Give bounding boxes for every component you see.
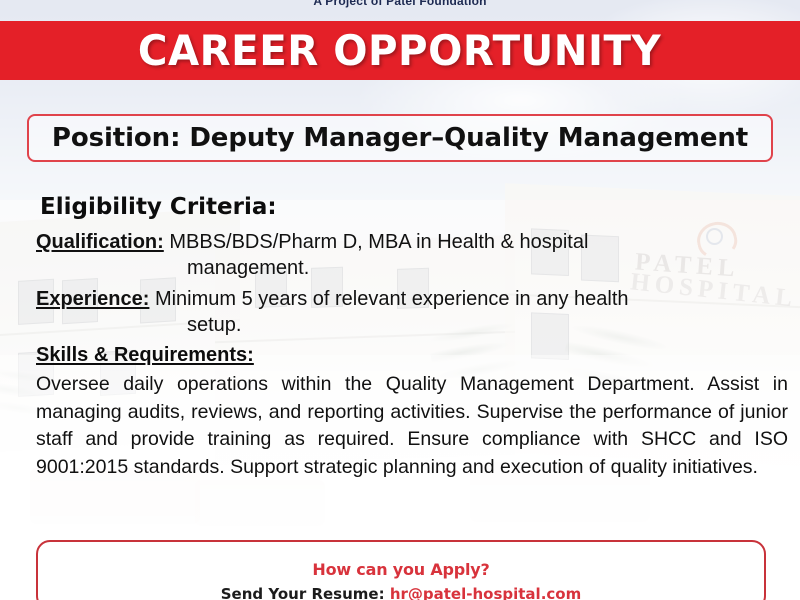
criteria-value: Minimum 5 years of relevant experience i… — [155, 288, 629, 310]
position-title-box: Position: Deputy Manager–Quality Managem… — [27, 114, 773, 162]
criteria-value-line2: management. — [36, 256, 786, 282]
hr-email-link[interactable]: hr@patel-hospital.com — [390, 585, 581, 600]
banner-title: CAREER OPPORTUNITY — [138, 26, 661, 75]
poster-content: A Project of Patel Foundation CAREER OPP… — [0, 0, 800, 600]
foundation-tagline: A Project of Patel Foundation — [0, 0, 800, 8]
criteria-experience: Experience: Minimum 5 years of relevant … — [36, 287, 786, 338]
job-poster: PATEL HOSPITAL A Project of Patel Founda… — [0, 0, 800, 600]
criteria-value-line2: setup. — [36, 313, 786, 339]
how-to-apply-box: How can you Apply? Send Your Resume: hr@… — [36, 540, 766, 600]
skills-requirements-body: Oversee daily operations within the Qual… — [36, 371, 788, 482]
criteria-label: Qualification: — [36, 231, 164, 253]
career-opportunity-banner: CAREER OPPORTUNITY — [0, 21, 800, 80]
eligibility-criteria-heading: Eligibility Criteria: — [40, 194, 277, 220]
send-resume-label: Send Your Resume: — [221, 585, 385, 600]
position-title: Position: Deputy Manager–Quality Managem… — [52, 123, 748, 153]
criteria-value: MBBS/BDS/Pharm D, MBA in Health & hospit… — [169, 231, 588, 253]
send-resume-line: Send Your Resume: hr@patel-hospital.com — [38, 585, 764, 600]
criteria-qualification: Qualification: MBBS/BDS/Pharm D, MBA in … — [36, 230, 786, 281]
how-to-apply-title: How can you Apply? — [38, 560, 764, 579]
skills-requirements-heading: Skills & Requirements: — [36, 344, 254, 367]
criteria-label: Experience: — [36, 288, 149, 310]
